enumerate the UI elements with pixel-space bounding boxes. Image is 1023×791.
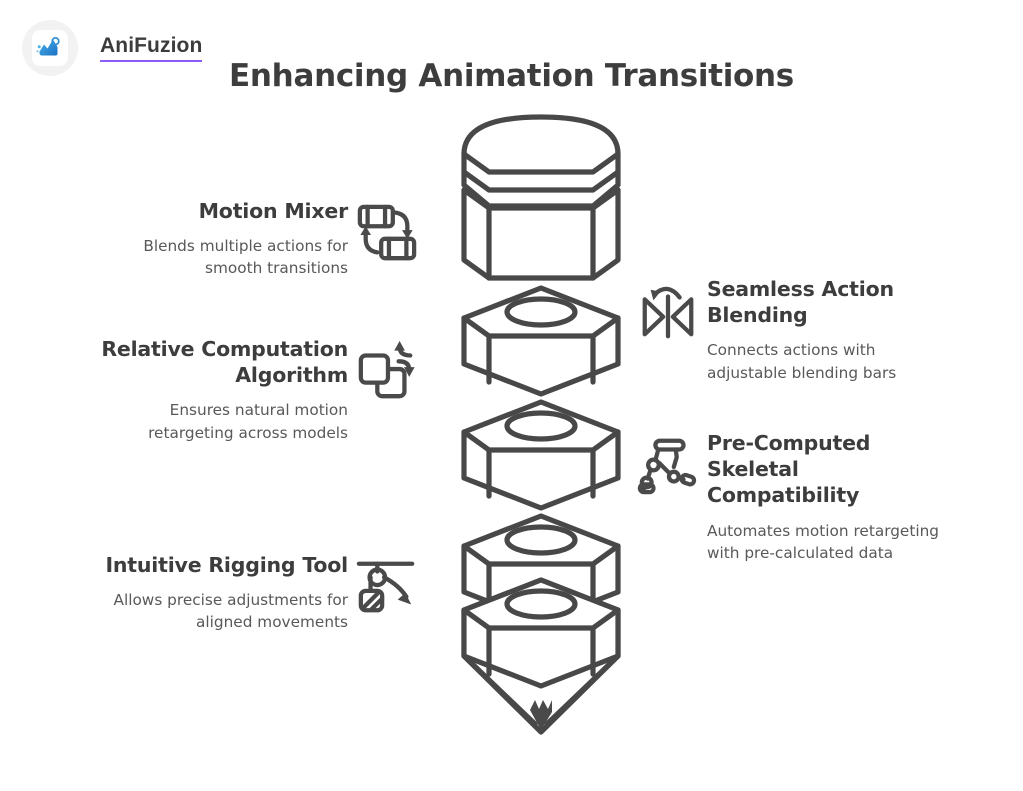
mirrored-triangles-blend-icon <box>637 280 699 342</box>
feature-text-block: Motion Mixer Blends multiple actions for… <box>86 198 348 280</box>
film-frames-swap-icon <box>356 202 418 264</box>
stacked-hex-nuts-bolt-illustration <box>438 112 644 737</box>
feature-description: Ensures natural motion retargeting acros… <box>86 399 348 443</box>
feature-seamless-action-blending: Seamless Action Blending Connects action… <box>637 276 957 384</box>
feature-pre-computed-skeletal-compatibility: Pre-Computed Skeletal Compatibility Auto… <box>637 430 957 564</box>
feature-heading: Seamless Action Blending <box>707 276 957 328</box>
nut-stack-svg <box>438 112 644 737</box>
hex-nut-4-with-conical-tip <box>464 580 618 732</box>
feature-heading: Motion Mixer <box>86 198 348 224</box>
feature-description: Connects actions with adjustable blendin… <box>707 339 957 383</box>
skeleton-rig-icon <box>637 434 699 496</box>
feature-description: Allows precise adjustments for aligned m… <box>86 589 348 633</box>
feature-description: Blends multiple actions for smooth trans… <box>86 235 348 279</box>
overlapping-squares-swap-icon <box>356 340 418 402</box>
feature-heading: Relative Computation Algorithm <box>86 336 348 388</box>
infographic-page: AniFuzion Enhancing Animation Transition… <box>0 0 1023 791</box>
feature-relative-computation-algorithm: Relative Computation Algorithm Ensures n… <box>86 336 418 444</box>
feature-text-block: Relative Computation Algorithm Ensures n… <box>86 336 348 444</box>
feature-motion-mixer: Motion Mixer Blends multiple actions for… <box>86 198 418 280</box>
feature-intuitive-rigging-tool: Intuitive Rigging Tool Allows precise ad… <box>86 552 418 634</box>
dome-cap-nut <box>464 117 618 278</box>
feature-text-block: Seamless Action Blending Connects action… <box>707 276 957 384</box>
pulley-weight-icon <box>356 556 418 618</box>
feature-description: Automates motion retargeting with pre-ca… <box>707 520 957 564</box>
hex-nut-1 <box>464 288 618 394</box>
feature-text-block: Intuitive Rigging Tool Allows precise ad… <box>86 552 348 634</box>
feature-heading: Intuitive Rigging Tool <box>86 552 348 578</box>
feature-text-block: Pre-Computed Skeletal Compatibility Auto… <box>707 430 957 564</box>
feature-heading: Pre-Computed Skeletal Compatibility <box>707 430 957 509</box>
hex-nut-2 <box>464 402 618 508</box>
page-title: Enhancing Animation Transitions <box>0 58 1023 94</box>
